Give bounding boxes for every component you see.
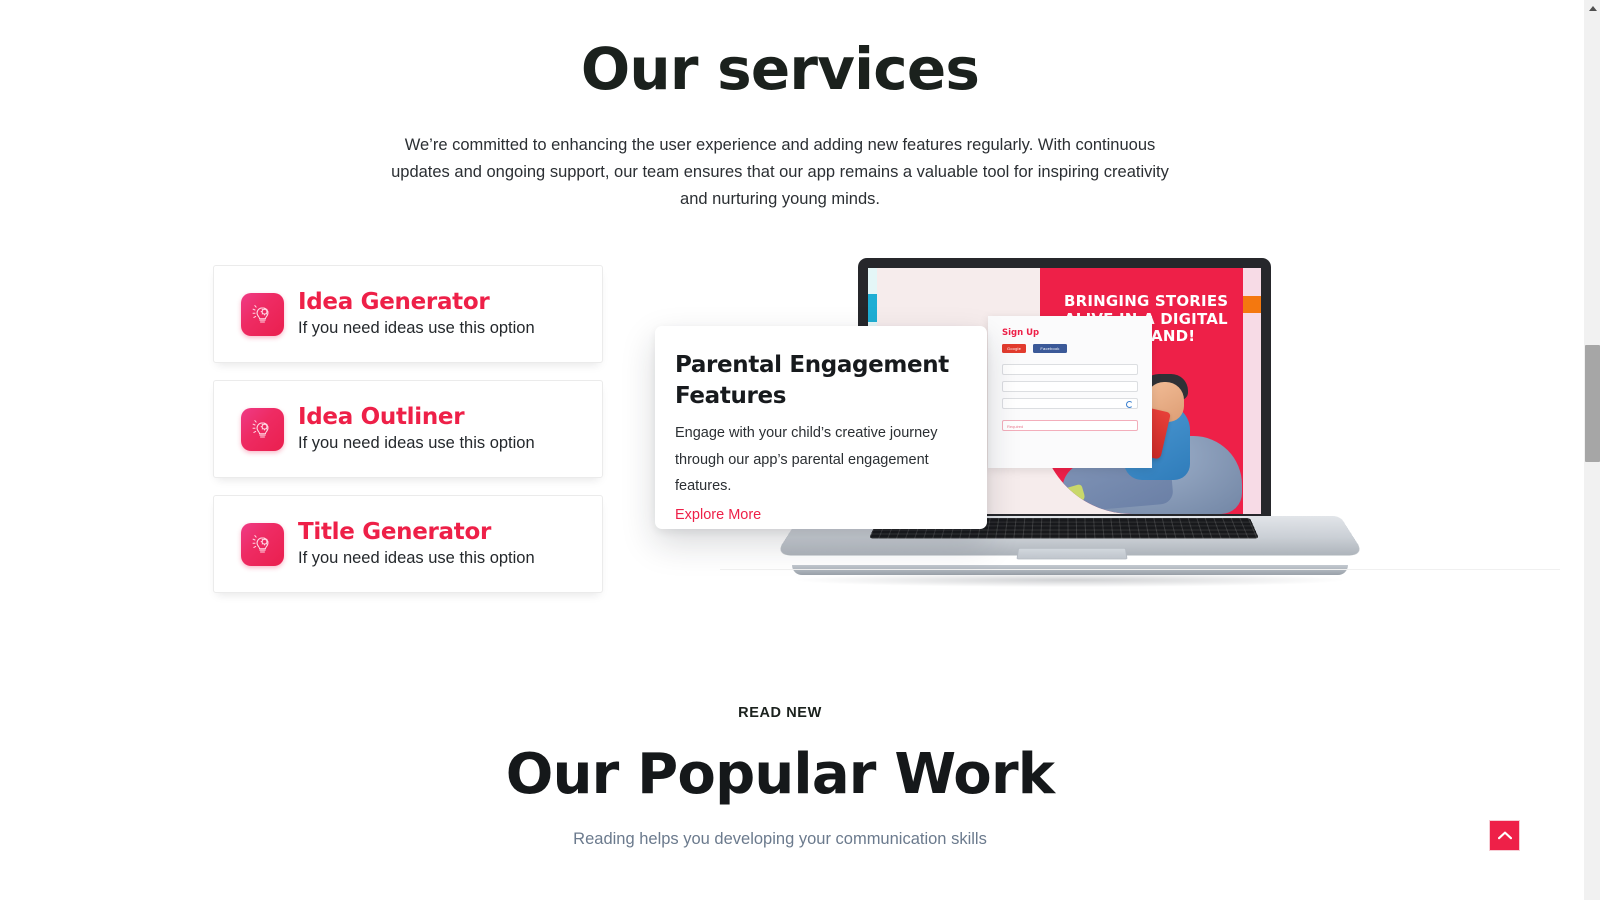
service-card-subtitle: If you need ideas use this option bbox=[298, 434, 535, 454]
signup-form-title: Sign Up bbox=[1002, 328, 1039, 338]
service-card-text: Title Generator If you need ideas use th… bbox=[298, 519, 535, 569]
service-card-title: Idea Outliner bbox=[298, 404, 535, 430]
back-to-top-button[interactable] bbox=[1489, 820, 1520, 851]
services-header: Our services We’re committed to enhancin… bbox=[0, 38, 1560, 213]
service-card-idea-generator[interactable]: Idea Generator If you need ideas use thi… bbox=[213, 265, 603, 363]
signup-field-error[interactable]: Required bbox=[1002, 420, 1138, 431]
service-card-idea-outliner[interactable]: Idea Outliner If you need ideas use this… bbox=[213, 380, 603, 478]
services-description: We’re committed to enhancing the user ex… bbox=[385, 132, 1175, 213]
laptop-trackpad bbox=[1017, 548, 1128, 559]
page-viewport: Our services We’re committed to enhancin… bbox=[0, 0, 1560, 900]
browser-scrollbar[interactable] bbox=[1583, 0, 1600, 900]
popular-work-subtitle: Reading helps you developing your commun… bbox=[570, 827, 990, 852]
laptop-drop-shadow bbox=[798, 573, 1342, 587]
lightbulb-gear-icon bbox=[241, 408, 284, 451]
scrollbar-thumb[interactable] bbox=[1585, 345, 1600, 462]
page-title: Our services bbox=[0, 38, 1560, 102]
popular-work-title: Our Popular Work bbox=[0, 745, 1560, 805]
explore-more-link[interactable]: Explore More bbox=[675, 507, 761, 523]
overlay-card-title: Parental Engagement Features bbox=[675, 350, 961, 412]
signup-field-3[interactable] bbox=[1002, 398, 1138, 409]
social-login-row: Google Facebook bbox=[1002, 344, 1067, 353]
page-root: Our services We’re committed to enhancin… bbox=[0, 0, 1600, 900]
google-login-button[interactable]: Google bbox=[1002, 344, 1026, 353]
service-card-title: Idea Generator bbox=[298, 289, 535, 315]
services-card-list: Idea Generator If you need ideas use thi… bbox=[213, 265, 603, 610]
service-card-subtitle: If you need ideas use this option bbox=[298, 549, 535, 569]
service-card-title: Title Generator bbox=[298, 519, 535, 545]
service-card-subtitle: If you need ideas use this option bbox=[298, 319, 535, 339]
popular-work-section: READ NEW Our Popular Work Reading helps … bbox=[0, 705, 1560, 852]
lightbulb-gear-icon bbox=[241, 523, 284, 566]
signup-field-1[interactable] bbox=[1002, 364, 1138, 375]
section-eyebrow: READ NEW bbox=[0, 705, 1560, 721]
service-card-text: Idea Generator If you need ideas use thi… bbox=[298, 289, 535, 339]
signup-field-error-text: Required bbox=[1007, 424, 1023, 429]
service-card-title-generator[interactable]: Title Generator If you need ideas use th… bbox=[213, 495, 603, 593]
parental-engagement-card[interactable]: Parental Engagement Features Engage with… bbox=[655, 326, 987, 529]
screen-signup-form: Sign Up Google Facebook Required bbox=[988, 316, 1152, 468]
overlay-card-body: Engage with your child’s creative journe… bbox=[675, 420, 961, 500]
chevron-up-icon bbox=[1498, 831, 1512, 840]
signup-field-2[interactable] bbox=[1002, 381, 1138, 392]
facebook-login-button[interactable]: Facebook bbox=[1033, 344, 1067, 353]
scroll-up-arrow[interactable] bbox=[1584, 0, 1600, 17]
screen-right-accent-strip bbox=[1243, 268, 1261, 514]
loading-spinner-icon bbox=[1126, 401, 1133, 408]
service-card-text: Idea Outliner If you need ideas use this… bbox=[298, 404, 535, 454]
lightbulb-gear-icon bbox=[241, 293, 284, 336]
desk-surface-line bbox=[720, 569, 1560, 570]
